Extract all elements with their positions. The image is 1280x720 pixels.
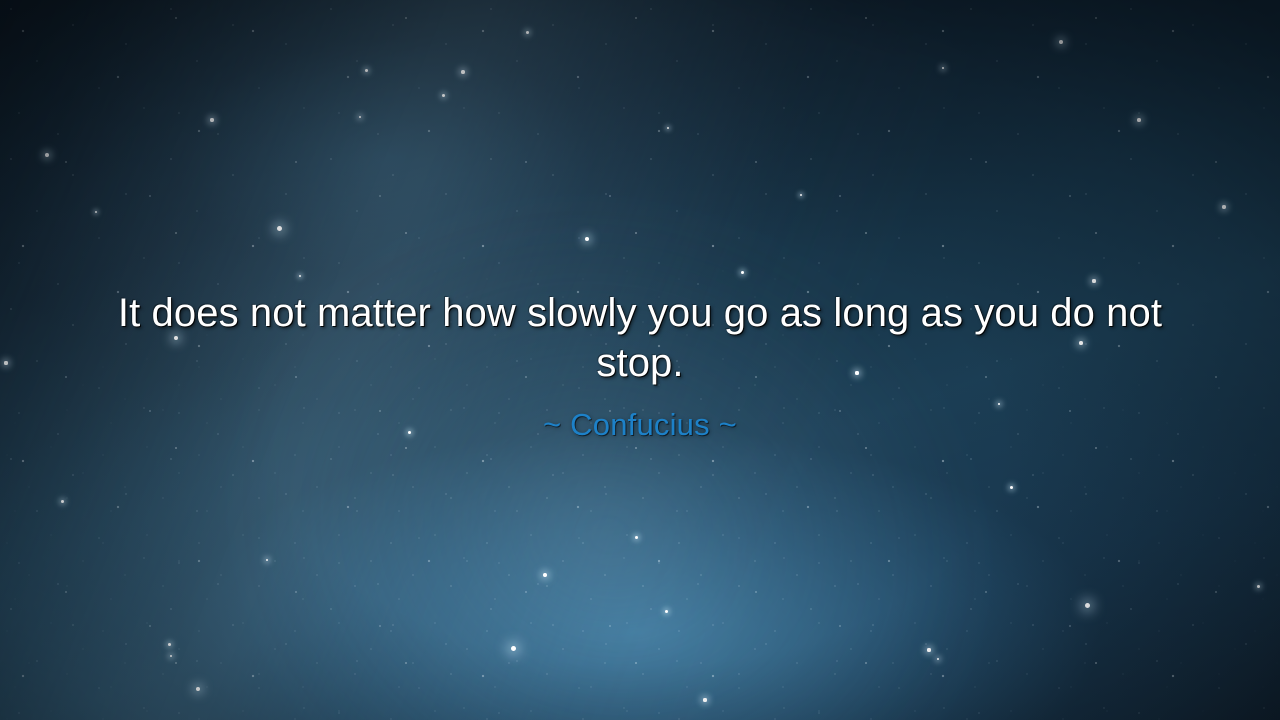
quote-author: ~ Confucius ~: [56, 406, 1224, 444]
quote-slide: It does not matter how slowly you go as …: [0, 0, 1280, 720]
quote-text: It does not matter how slowly you go as …: [104, 288, 1176, 388]
quote-block: It does not matter how slowly you go as …: [0, 288, 1280, 444]
